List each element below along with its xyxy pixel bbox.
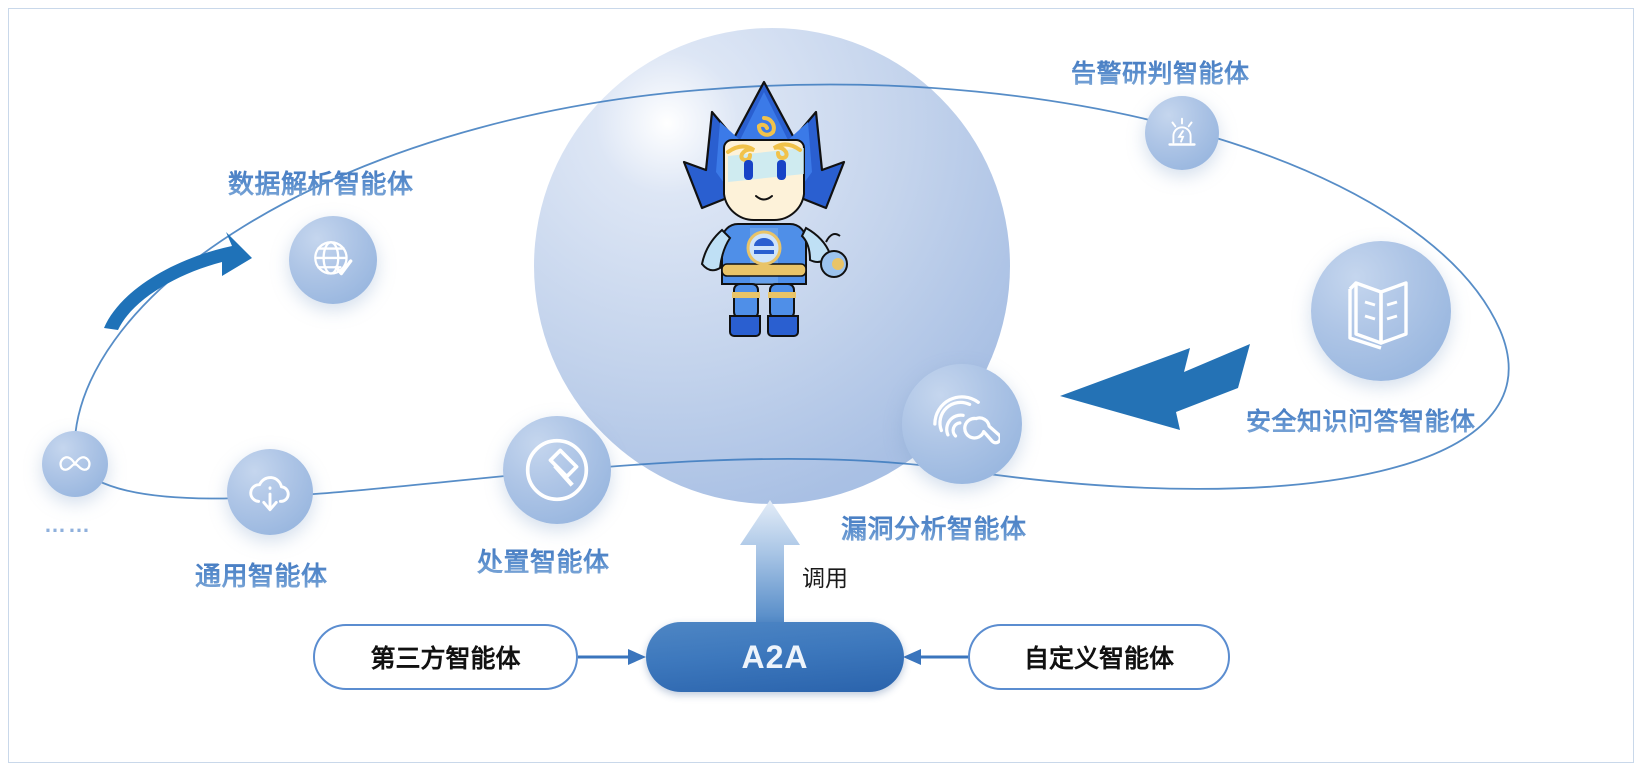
label-ellipsis: …… — [44, 512, 92, 538]
diagram-canvas: 数据解析智能体 告警研判智能体 安全知识问答智能体 漏洞分析智能体 处置智能体 … — [0, 0, 1642, 771]
label-disposal: 处置智能体 — [477, 542, 610, 579]
open-book-icon — [1338, 272, 1424, 350]
label-data-parsing: 数据解析智能体 — [228, 164, 414, 201]
call-label: 调用 — [802, 559, 848, 593]
label-alert-judgment: 告警研判智能体 — [1071, 54, 1250, 90]
label-security-qa: 安全知识问答智能体 — [1246, 402, 1476, 438]
label-general: 通用智能体 — [195, 556, 328, 593]
infinity-icon — [54, 451, 96, 477]
gavel-circle-icon — [519, 432, 595, 508]
security-mascot — [676, 78, 852, 346]
node-general[interactable] — [227, 449, 313, 535]
third-party-agent-pill[interactable]: 第三方智能体 — [313, 624, 578, 690]
a2a-button[interactable]: A2A — [646, 622, 904, 692]
flow-arrow-right — [1060, 344, 1250, 430]
node-data-parsing[interactable] — [289, 216, 377, 304]
node-disposal[interactable] — [503, 416, 611, 524]
globe-check-icon — [308, 235, 358, 285]
node-security-qa[interactable] — [1311, 241, 1451, 381]
flow-arrow-left — [104, 232, 252, 330]
custom-agent-pill[interactable]: 自定义智能体 — [968, 624, 1230, 690]
node-vuln-analysis[interactable] — [902, 364, 1022, 484]
node-alert-judgment[interactable] — [1145, 96, 1219, 170]
custom-agent-label: 自定义智能体 — [1024, 639, 1174, 675]
fingerprint-wrench-icon — [924, 386, 1000, 462]
node-more[interactable] — [42, 431, 108, 497]
third-party-agent-label: 第三方智能体 — [370, 639, 520, 675]
cloud-download-icon — [244, 466, 296, 518]
label-vuln-analysis: 漏洞分析智能体 — [841, 509, 1027, 546]
connector-right-to-a2a — [903, 649, 968, 665]
alarm-light-icon — [1161, 112, 1203, 154]
a2a-label: A2A — [741, 639, 808, 676]
call-arrow — [740, 500, 800, 630]
connector-left-to-a2a — [578, 649, 646, 665]
